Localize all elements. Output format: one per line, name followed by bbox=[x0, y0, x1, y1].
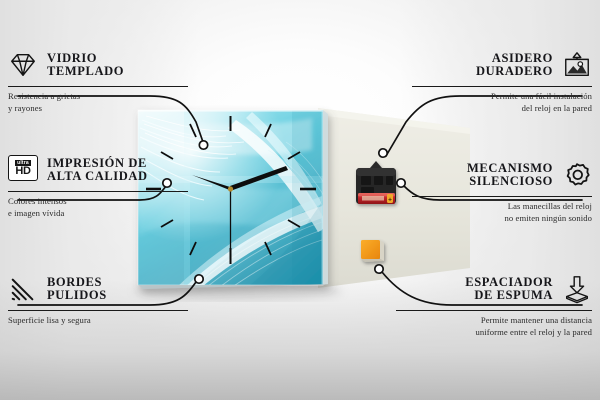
feature-title-line1: IMPRESIÓN DE bbox=[47, 157, 148, 170]
feature-mecanismo-silencioso[interactable]: MECANISMO SILENCIOSO Las manecillas del … bbox=[412, 158, 592, 224]
feature-divider bbox=[8, 86, 188, 87]
feature-asidero-duradero[interactable]: ASIDERO DURADERO Permite una fácil insta… bbox=[412, 48, 592, 114]
feature-title-line2: ALTA CALIDAD bbox=[47, 170, 148, 183]
feature-title-group: IMPRESIÓN DE ALTA CALIDAD bbox=[47, 157, 148, 184]
feature-desc-line1: Superficie lisa y segura bbox=[8, 315, 188, 327]
feature-divider bbox=[412, 196, 592, 197]
feature-title-group: ASIDERO DURADERO bbox=[476, 52, 553, 79]
ultra-hd-icon-main-label: HD bbox=[15, 166, 30, 177]
feature-desc-line1: Las manecillas del reloj bbox=[412, 201, 592, 213]
feature-vidrio-templado[interactable]: VIDRIO TEMPLADO Resistencia a grietas y … bbox=[8, 48, 188, 114]
feature-espaciador-de-espuma[interactable]: ESPACIADOR DE ESPUMA Permite mantener un… bbox=[396, 272, 592, 338]
feature-title-line2: DURADERO bbox=[476, 65, 553, 78]
dot-vidrio-templado bbox=[199, 141, 207, 149]
foam-spacer-icon bbox=[562, 274, 592, 304]
hanging-frame-icon bbox=[562, 50, 592, 80]
feature-desc-line1: Permite mantener una distancia bbox=[396, 315, 592, 327]
feature-title-group: VIDRIO TEMPLADO bbox=[47, 52, 124, 79]
ultra-hd-icon: ultra HD bbox=[8, 155, 38, 185]
feature-title-group: ESPACIADOR DE ESPUMA bbox=[465, 276, 553, 303]
feature-impresion-alta-calidad[interactable]: ultra HD IMPRESIÓN DE ALTA CALIDAD Color… bbox=[8, 153, 188, 219]
feature-header: ultra HD IMPRESIÓN DE ALTA CALIDAD bbox=[8, 153, 188, 187]
diamond-icon bbox=[8, 50, 38, 80]
feature-description: Permite mantener una distancia uniforme … bbox=[396, 315, 592, 338]
feature-desc-line2: no emiten ningún sonido bbox=[412, 213, 592, 225]
feature-header: ASIDERO DURADERO bbox=[412, 48, 592, 82]
dot-bordes bbox=[195, 275, 203, 283]
feature-description: Permite una fácil instalación del reloj … bbox=[412, 91, 592, 114]
feature-desc-line1: Resistencia a grietas bbox=[8, 91, 188, 103]
dot-espaciador bbox=[375, 265, 383, 273]
feature-divider bbox=[396, 310, 592, 311]
feature-title-line1: MECANISMO bbox=[467, 162, 553, 175]
feature-title-line2: TEMPLADO bbox=[47, 65, 124, 78]
feature-title-line2: SILENCIOSO bbox=[467, 175, 553, 188]
infographic-canvas: + bbox=[0, 0, 600, 400]
feature-description: Superficie lisa y segura bbox=[8, 315, 188, 327]
feature-title-line1: ESPACIADOR bbox=[465, 276, 553, 289]
feature-description: Resistencia a grietas y rayones bbox=[8, 91, 188, 114]
feature-title-line1: VIDRIO bbox=[47, 52, 124, 65]
feature-desc-line2: y rayones bbox=[8, 103, 188, 115]
feature-header: VIDRIO TEMPLADO bbox=[8, 48, 188, 82]
feature-bordes-pulidos[interactable]: BORDES PULIDOS Superficie lisa y segura bbox=[8, 272, 188, 327]
feature-desc-line2: uniforme entre el reloj y la pared bbox=[396, 327, 592, 339]
feature-divider bbox=[412, 86, 592, 87]
feature-desc-line2: del reloj en la pared bbox=[412, 103, 592, 115]
feature-desc-line1: Colores intensos bbox=[8, 196, 188, 208]
feature-header: BORDES PULIDOS bbox=[8, 272, 188, 306]
feature-desc-line1: Permite una fácil instalación bbox=[412, 91, 592, 103]
feature-title-group: BORDES PULIDOS bbox=[47, 276, 107, 303]
feature-title-line2: DE ESPUMA bbox=[465, 289, 553, 302]
feature-header: ESPACIADOR DE ESPUMA bbox=[396, 272, 592, 306]
feature-title-line2: PULIDOS bbox=[47, 289, 107, 302]
feature-header: MECANISMO SILENCIOSO bbox=[412, 158, 592, 192]
polished-edge-icon bbox=[8, 274, 38, 304]
feature-description: Colores intensos e imagen vívida bbox=[8, 196, 188, 219]
feature-title-line1: BORDES bbox=[47, 276, 107, 289]
feature-desc-line2: e imagen vívida bbox=[8, 208, 188, 220]
gear-icon bbox=[562, 160, 592, 190]
feature-title-line1: ASIDERO bbox=[476, 52, 553, 65]
feature-divider bbox=[8, 191, 188, 192]
feature-title-group: MECANISMO SILENCIOSO bbox=[467, 162, 553, 189]
feature-divider bbox=[8, 310, 188, 311]
dot-asidero bbox=[379, 149, 387, 157]
dot-mecanismo bbox=[397, 179, 405, 187]
feature-description: Las manecillas del reloj no emiten ningú… bbox=[412, 201, 592, 224]
